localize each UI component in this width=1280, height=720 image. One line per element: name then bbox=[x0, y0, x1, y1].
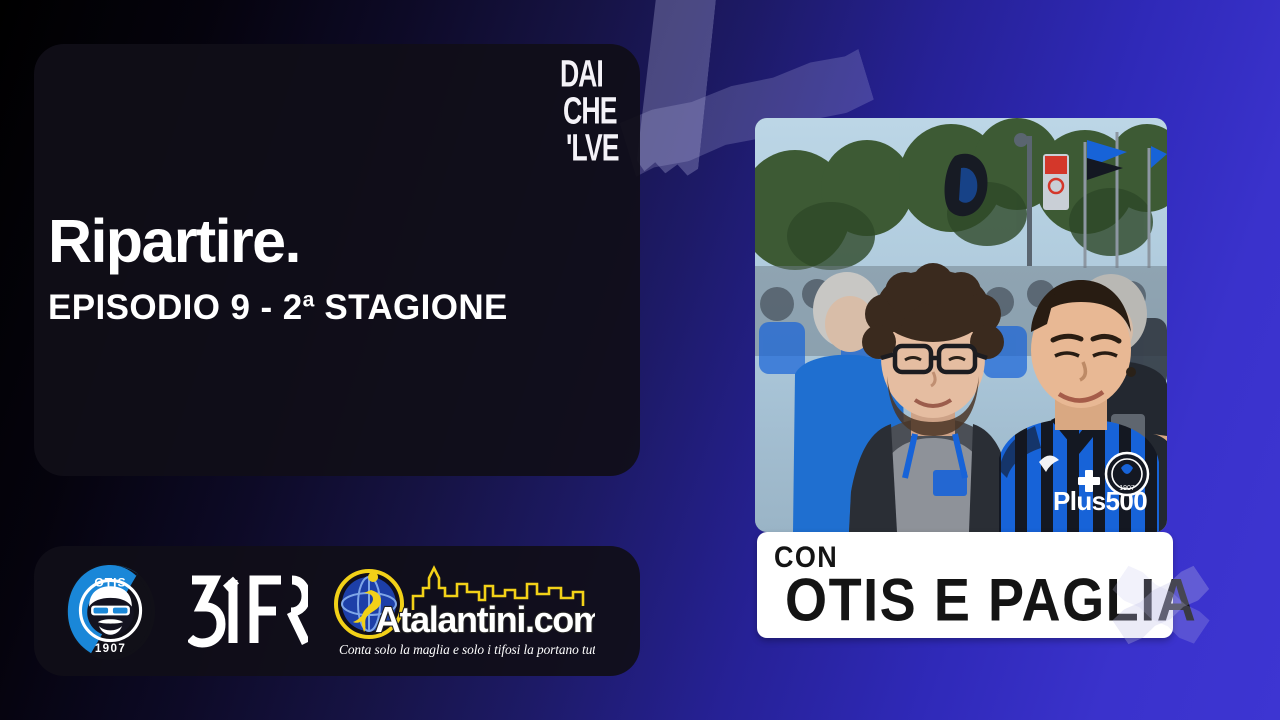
tape-strip-vertical-icon bbox=[636, 0, 719, 177]
brand-line-3: 'LVE bbox=[566, 132, 619, 168]
poster-canvas: DAI CHE 'LVE Ripartire. EPISODIO 9 - 2a … bbox=[0, 0, 1280, 720]
guest-names: OTIS E PAGLIA bbox=[785, 566, 1197, 636]
brand-line-1: DAI bbox=[560, 58, 619, 94]
atalantini-logo: Atalantini.com Conta solo la maglia e so… bbox=[333, 562, 595, 664]
otis-logo: OTIS 1907 bbox=[62, 562, 159, 661]
guest-polaroid: Plus500 1907 CON OTIS E PAGLIA bbox=[755, 118, 1173, 640]
episode-subtitle-tail: STAGIONE bbox=[314, 288, 508, 327]
svg-text:1907: 1907 bbox=[95, 642, 126, 655]
svg-text:Atalantini.com: Atalantini.com bbox=[375, 599, 595, 640]
guest-caption-card: CON OTIS E PAGLIA bbox=[757, 532, 1173, 638]
31fr-logo bbox=[188, 567, 308, 655]
brand-logo: DAI CHE 'LVE bbox=[560, 58, 624, 156]
episode-subtitle-ordinal: a bbox=[303, 288, 315, 311]
guest-photo: Plus500 1907 bbox=[755, 118, 1167, 532]
episode-subtitle: EPISODIO 9 - 2a STAGIONE bbox=[48, 288, 508, 328]
brand-line-2: CHE bbox=[563, 95, 619, 131]
episode-title: Ripartire. bbox=[48, 206, 300, 276]
svg-text:1907: 1907 bbox=[1119, 485, 1135, 492]
episode-subtitle-main: EPISODIO 9 - 2 bbox=[48, 288, 303, 327]
svg-text:OTIS: OTIS bbox=[94, 575, 126, 589]
svg-text:Conta solo la maglia e solo i: Conta solo la maglia e solo i tifosi la … bbox=[339, 642, 595, 657]
